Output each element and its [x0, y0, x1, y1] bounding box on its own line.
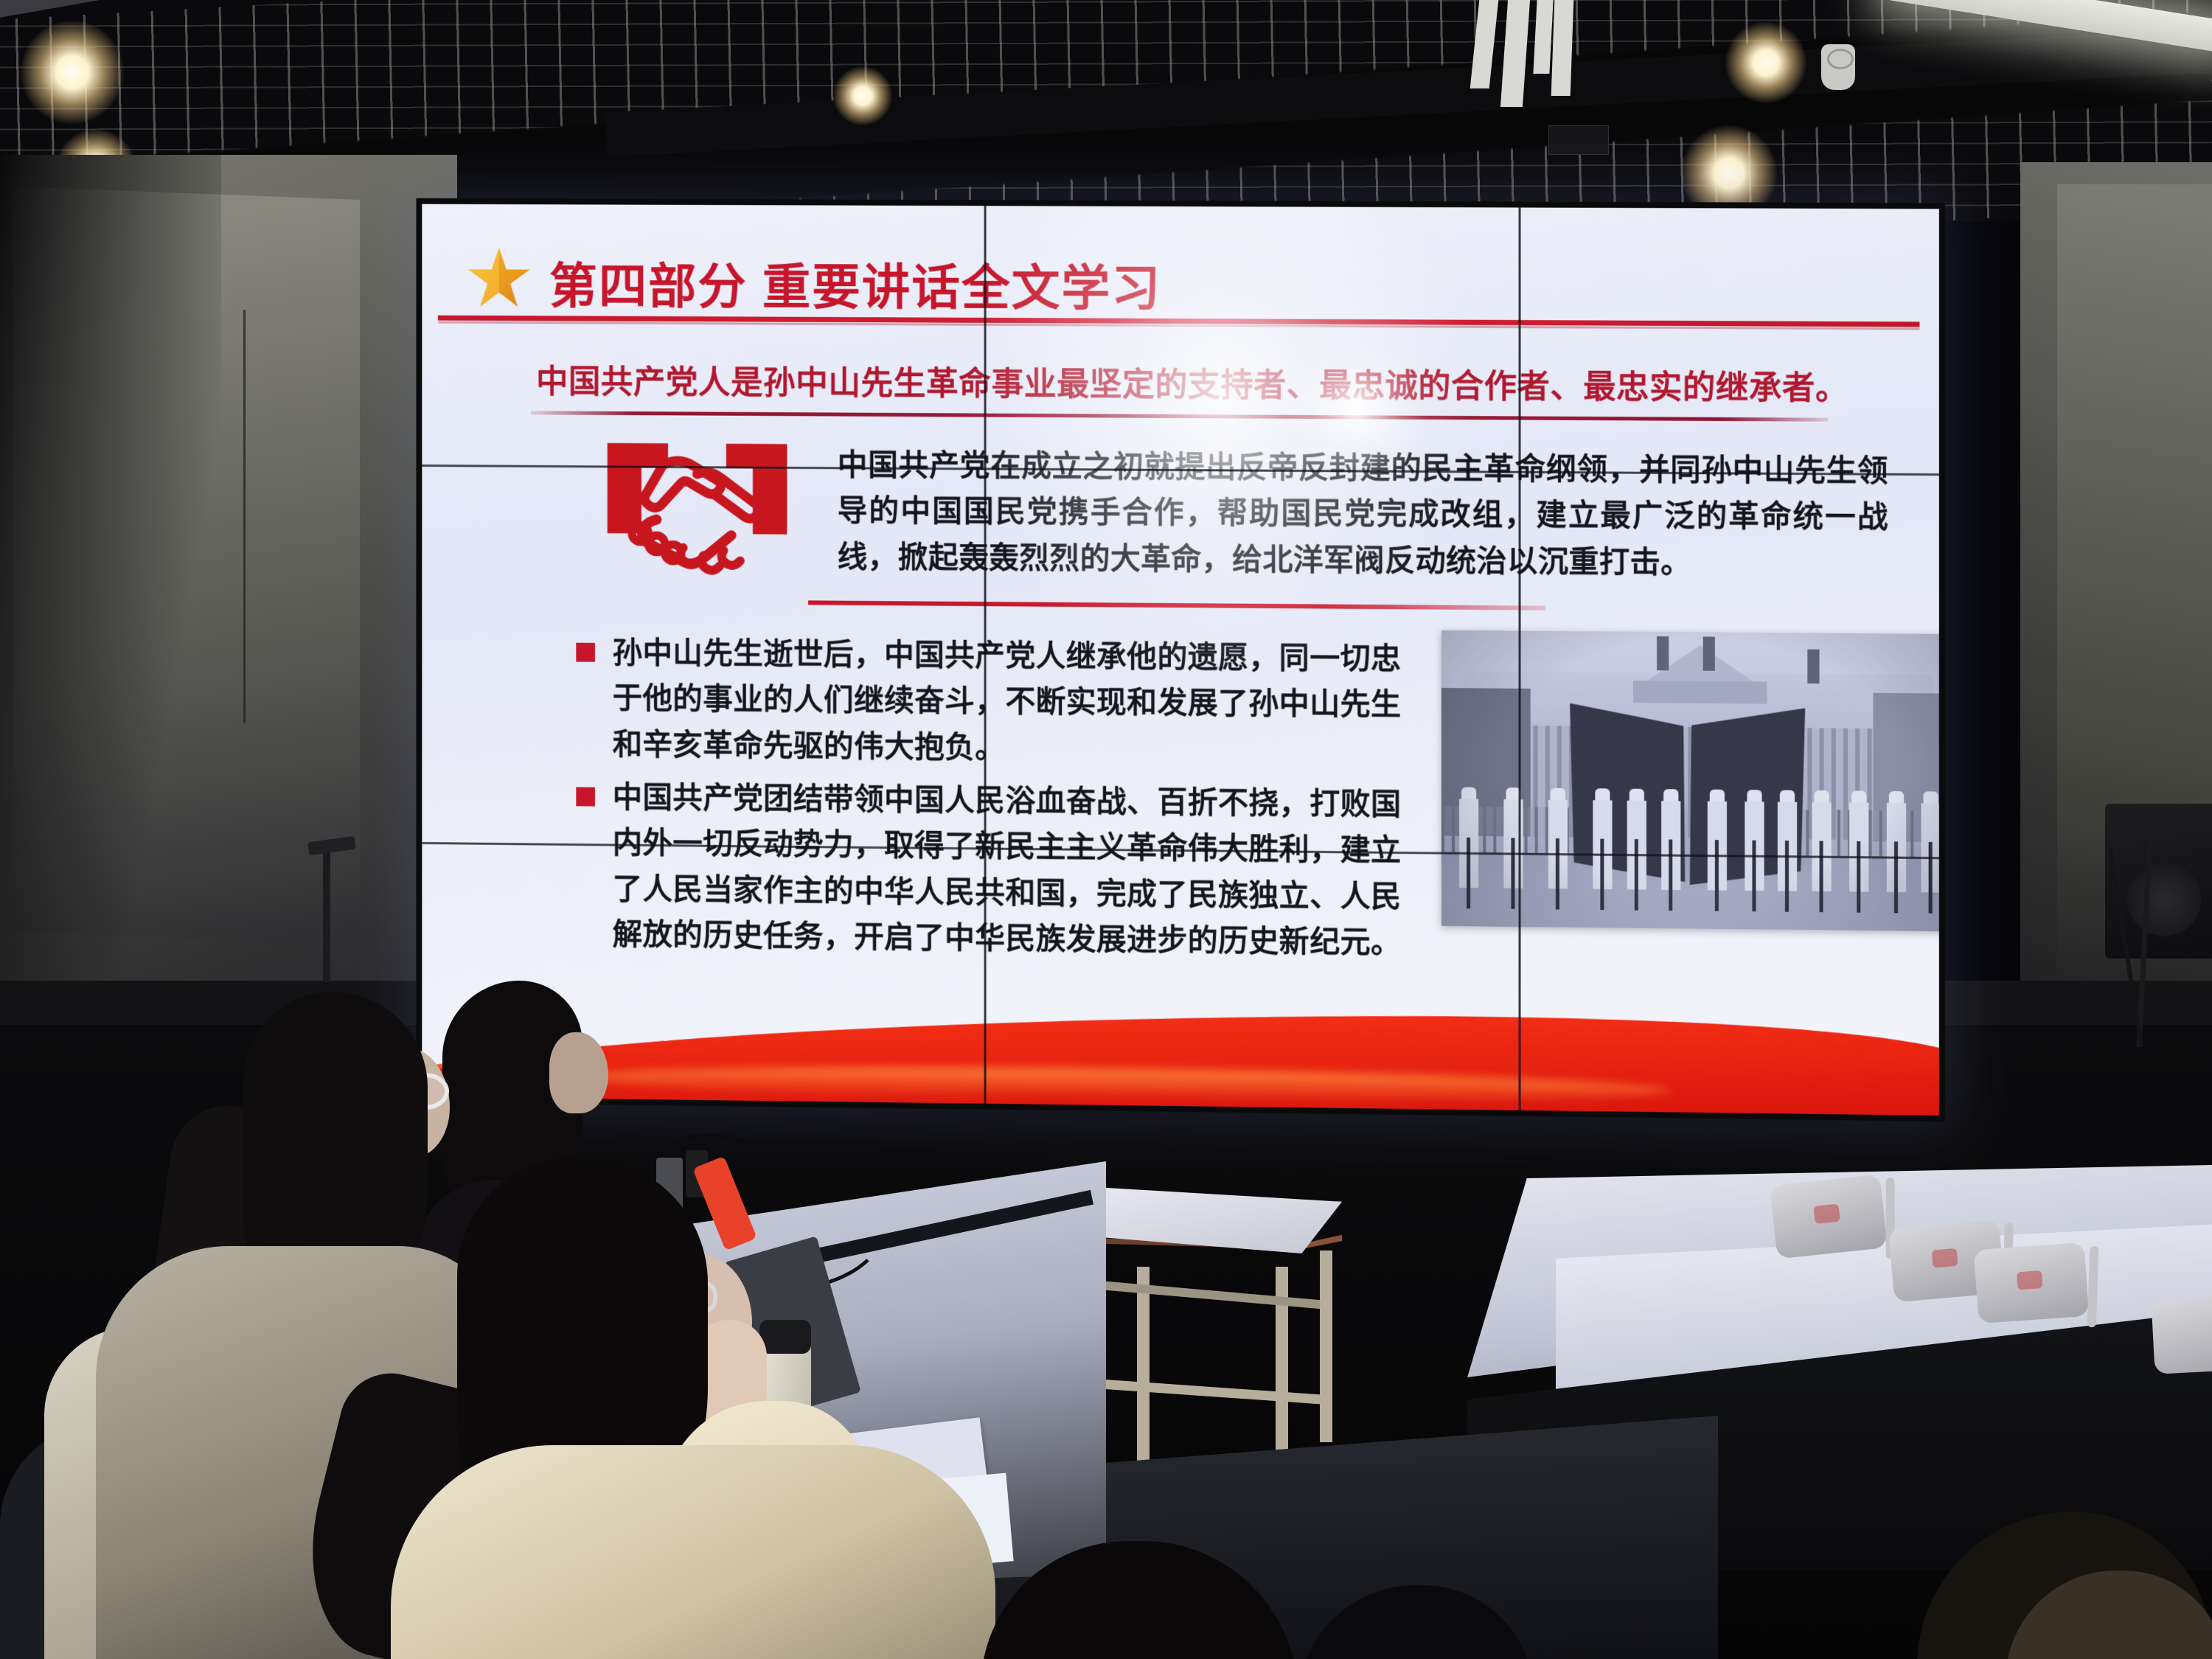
video-wall-display[interactable]: 第四部分 重要讲话全文学习 中国共产党人是孙中山先生革命事业最坚定的支持者、最忠… — [416, 198, 1945, 1121]
slide-bottom-ribbon — [422, 990, 1939, 1116]
historical-photo — [1441, 630, 1939, 932]
handshake-icon — [602, 438, 792, 586]
chair-back — [1770, 1174, 1888, 1259]
microphone-device — [656, 1158, 683, 1209]
hanging-fixture — [1551, 0, 1574, 96]
table-rail — [1075, 1377, 1326, 1405]
five-pointed-star-icon — [465, 246, 532, 313]
left-wall-seam — [243, 310, 246, 723]
bullet-text: 孙中山先生逝世后，中国共产党人继承他的遗愿，同一切忠于他的事业的人们继续奋斗，不… — [613, 636, 1402, 764]
ceiling-speaker-icon — [1821, 44, 1855, 90]
video-wall-seam-vertical — [984, 206, 987, 1104]
paragraph-divider — [808, 600, 1545, 610]
presentation-slide: 第四部分 重要讲话全文学习 中国共产党人是孙中山先生革命事业最坚定的支持者、最忠… — [422, 204, 1939, 1116]
chair-accent — [1813, 1204, 1840, 1224]
chair-accent — [2017, 1270, 2043, 1290]
subtitle-divider — [531, 411, 1829, 421]
ceiling-projector-box — [1548, 125, 1609, 155]
video-wall-seam-vertical — [1519, 207, 1521, 1110]
slide-subtitle: 中国共产党人是孙中山先生革命事业最坚定的支持者、最忠诚的合作者、最忠实的继承者。 — [504, 355, 1882, 409]
chair-accent — [1932, 1248, 1958, 1268]
slide-title: 第四部分 重要讲话全文学习 — [549, 247, 1162, 320]
chair-back — [1974, 1242, 2090, 1324]
chair-back — [2151, 1295, 2212, 1374]
slide-screen: 第四部分 重要讲话全文学习 中国共产党人是孙中山先生革命事业最坚定的支持者、最忠… — [422, 204, 1939, 1116]
papers-stack — [793, 1473, 1013, 1580]
downlight-icon — [833, 66, 892, 125]
bullet-square-icon — [576, 787, 595, 806]
downlight-icon — [21, 21, 124, 124]
bullet-square-icon — [576, 643, 595, 662]
downlight-icon — [1725, 22, 1806, 103]
thermos-cap — [759, 1320, 811, 1354]
thermos-bottle — [759, 1335, 811, 1504]
photo-vignette — [1441, 630, 1939, 932]
list-item: 孙中山先生逝世后，中国共产党人继承他的遗愿，同一切忠于他的事业的人们继续奋斗，不… — [567, 630, 1419, 774]
slide-paragraph: 中国共产党在成立之初就提出反帝反封建的民主革命纲领，并同孙中山先生领导的中国国民… — [838, 442, 1888, 586]
table-leg — [1137, 1267, 1150, 1473]
microphone-stand — [323, 849, 330, 982]
list-item: 中国共产党团结带领中国人民浴血奋战、百折不挠，打败国内外一切反动势力，取得了新民… — [567, 773, 1419, 965]
table-leg — [1320, 1251, 1332, 1442]
conference-room-scene: 第四部分 重要讲话全文学习 中国共产党人是孙中山先生革命事业最坚定的支持者、最忠… — [0, 0, 2212, 1659]
bullet-text: 中国共产党团结带领中国人民浴血奋战、百折不挠，打败国内外一切反动势力，取得了新民… — [613, 780, 1402, 959]
left-wall-shadow — [0, 155, 221, 1025]
bullet-list: 孙中山先生逝世后，中国共产党人继承他的遗愿，同一切忠于他的事业的人们继续奋斗，不… — [567, 630, 1419, 973]
